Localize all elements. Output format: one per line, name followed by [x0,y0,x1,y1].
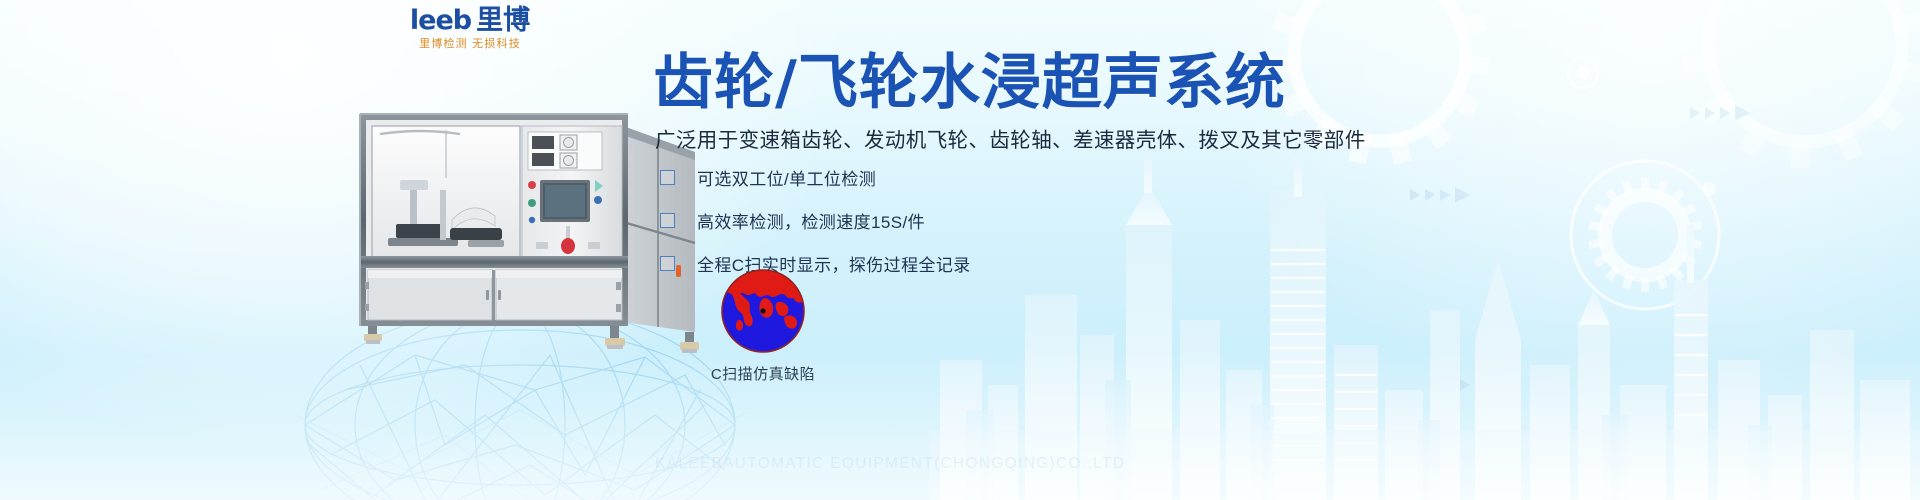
cscan-caption: C扫描仿真缺陷 [673,363,853,384]
logo-latin: leeb [410,5,471,36]
logo-tagline: 里博检测 无损科技 [345,37,595,51]
hero-subtitle: 广泛用于变速箱齿轮、发动机飞轮、齿轮轴、差速器壳体、拨叉及其它零部件 [655,128,1366,154]
company-watermark: KALEEBAUTOMATIC EQUIPMENT(CHONGQING)CO.,… [655,455,1125,473]
logo-wordmark: leeb里博 [345,6,595,36]
logo-chinese: 里博 [476,5,530,36]
feature-label: 可选双工位/单工位检测 [697,165,876,190]
checkbox-icon[interactable] [660,170,675,185]
feature-item-2[interactable]: 高效率检测，检测速度15S/件 [655,203,971,237]
feature-label: 高效率检测，检测速度15S/件 [697,208,925,233]
cscan-sample: C扫描仿真缺陷 [673,268,853,384]
cscan-defect-map-icon [720,268,806,354]
page-title: 齿轮/飞轮水浸超声系统 [653,50,1286,116]
feature-item-1[interactable]: 可选双工位/单工位检测 [655,160,971,194]
hero-banner: leeb里博 里博检测 无损科技 [0,0,1920,500]
company-logo[interactable]: leeb里博 里博检测 无损科技 [345,6,595,54]
checkbox-icon[interactable] [660,213,675,228]
cscan-disk-image [720,268,806,354]
hero-content: 齿轮/飞轮水浸超声系统 广泛用于变速箱齿轮、发动机飞轮、齿轮轴、差速器壳体、拨叉… [653,0,1920,500]
